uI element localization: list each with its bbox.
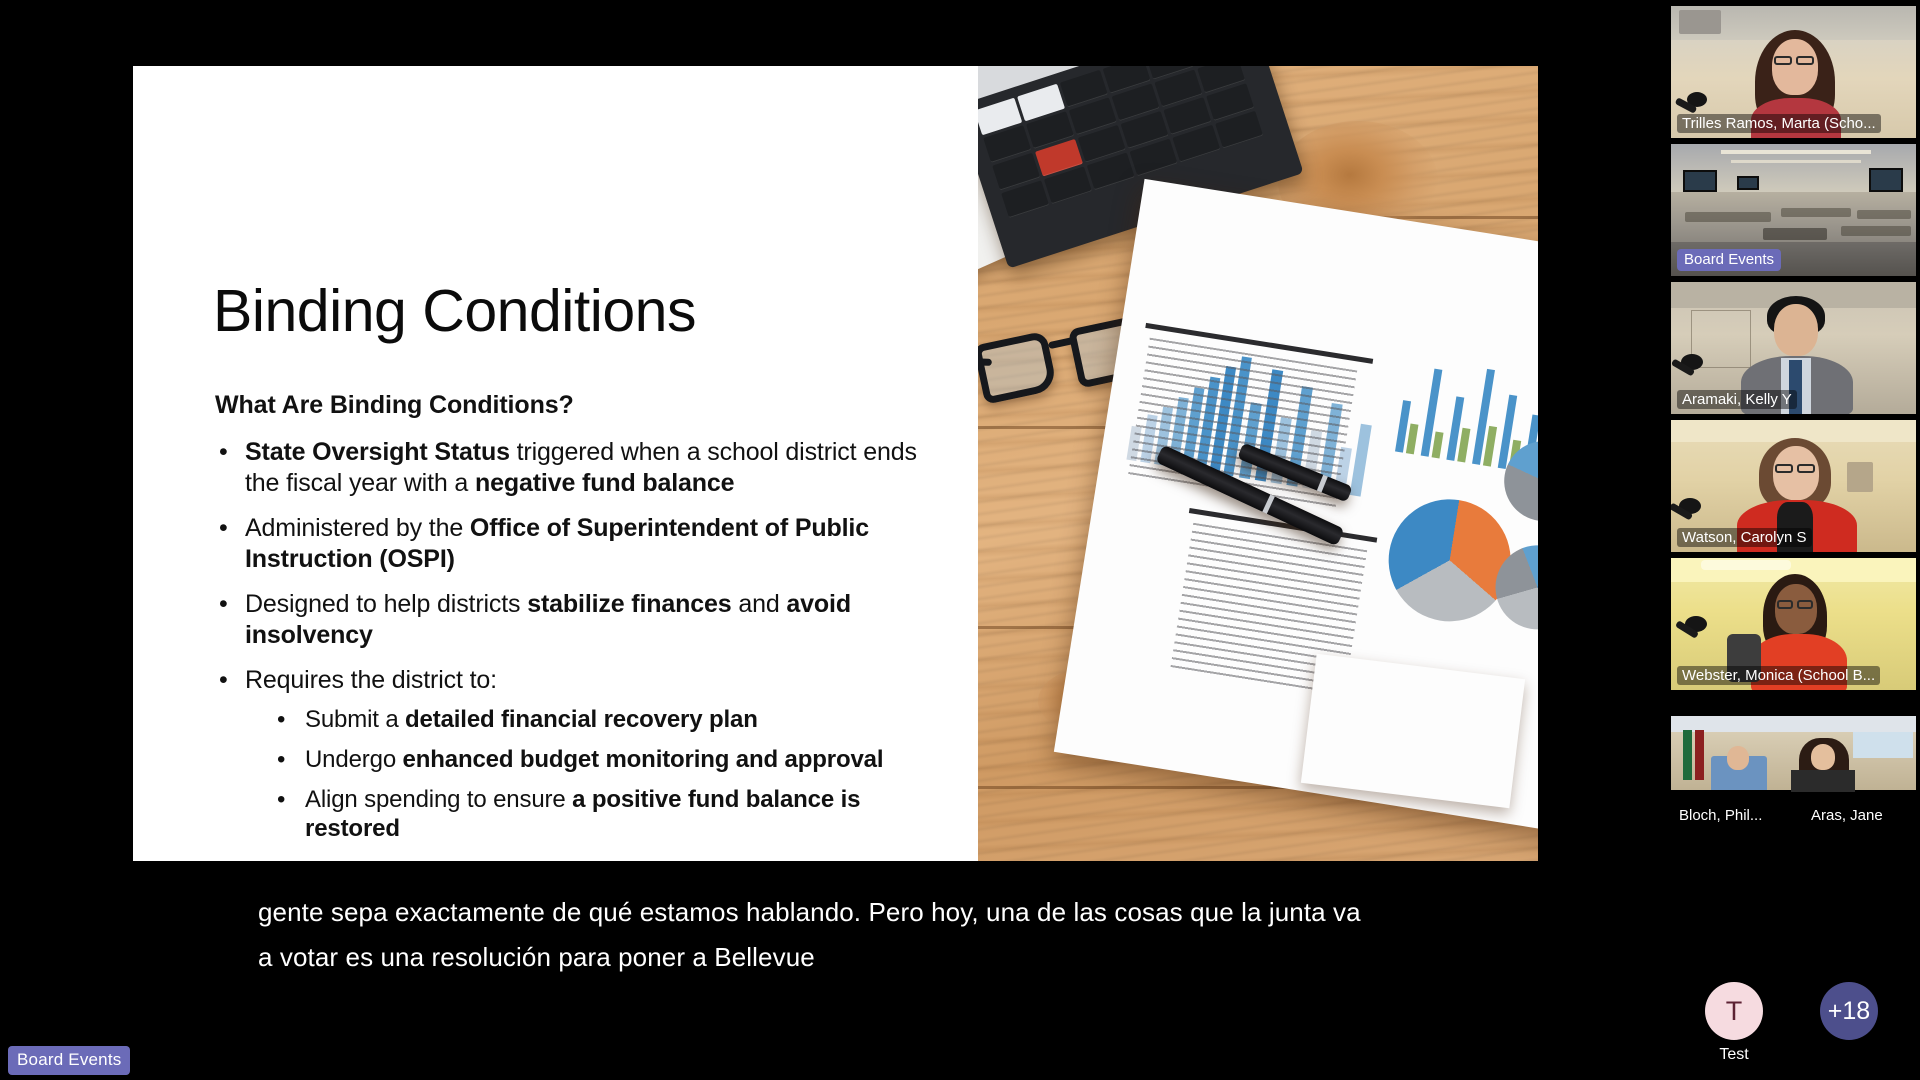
bullet-text: Requires the district to: xyxy=(245,666,497,694)
slide-bullet: •Requires the district to:•Submit a deta… xyxy=(215,665,935,844)
participant-tile[interactable]: Aramaki, Kelly Y xyxy=(1671,282,1916,414)
caption-line-2: a votar es una resolución para poner a B… xyxy=(258,935,1438,980)
participant-name: Board Events xyxy=(1677,249,1781,271)
bullet-text: Undergo xyxy=(305,746,403,773)
bullet-glyph-icon: • xyxy=(219,437,228,468)
participant-name-right: Aras, Jane xyxy=(1811,807,1883,824)
pie-chart-large xyxy=(1380,491,1520,631)
slide-bullet: •Designed to help districts stabilize fi… xyxy=(215,589,935,651)
bullet-text: Administered by the xyxy=(245,514,470,542)
participant-tile[interactable]: Trilles Ramos, Marta (Scho... xyxy=(1671,6,1916,138)
slide-bullet-body: State Oversight Status triggered when a … xyxy=(245,438,917,497)
slide-sub-bullet: •Undergo enhanced budget monitoring and … xyxy=(273,745,935,775)
slide-sub-bullet: •Align spending to ensure a positive fun… xyxy=(273,785,935,845)
slide-sub-bullet-body: Submit a detailed financial recovery pla… xyxy=(305,706,758,733)
bullet-emphasis: enhanced budget monitoring and approval xyxy=(403,746,884,773)
desk-photo xyxy=(978,66,1538,861)
bullet-glyph-icon: • xyxy=(219,665,228,696)
caption-line-1: gente sepa exactamente de qué estamos ha… xyxy=(258,890,1438,935)
slide-bullet-body: Requires the district to: xyxy=(245,666,497,694)
participant-filmstrip[interactable]: Trilles Ramos, Marta (Scho... Board Even… xyxy=(1665,0,1920,1080)
slide-bullet-body: Administered by the Office of Superinten… xyxy=(245,514,869,573)
participant-name-left: Bloch, Phil... xyxy=(1679,807,1762,824)
presentation-slide: Binding Conditions What Are Binding Cond… xyxy=(133,66,1538,861)
slide-title: Binding Conditions xyxy=(213,281,696,343)
bullet-emphasis: State Oversight Status xyxy=(245,438,510,466)
slide-bullet-list: •State Oversight Status triggered when a… xyxy=(215,437,935,844)
bullet-emphasis: stabilize finances xyxy=(527,590,731,618)
bullet-emphasis: detailed financial recovery plan xyxy=(405,706,758,733)
slide-sub-bullet-list: •Submit a detailed financial recovery pl… xyxy=(245,705,935,844)
stage-name-badge: Board Events xyxy=(8,1046,130,1075)
participant-tile-dual[interactable]: Bloch, Phil... Aras, Jane xyxy=(1671,702,1916,834)
participant-name: Watson, Carolyn S xyxy=(1677,528,1812,547)
overflow-participants-avatar[interactable]: +18 xyxy=(1820,982,1878,1040)
bullet-glyph-icon: • xyxy=(219,589,228,620)
slide-body: What Are Binding Conditions? •State Over… xyxy=(215,391,935,858)
slide-text-column: Binding Conditions What Are Binding Cond… xyxy=(133,66,978,861)
shared-content-stage[interactable]: Binding Conditions What Are Binding Cond… xyxy=(0,0,1665,1080)
slide-bullet: •Administered by the Office of Superinte… xyxy=(215,513,935,575)
slide-subheading: What Are Binding Conditions? xyxy=(215,391,935,420)
slide-image xyxy=(978,66,1538,861)
bullet-text: Submit a xyxy=(305,706,405,733)
bullet-glyph-icon: • xyxy=(277,745,285,775)
avatar-label: Test xyxy=(1705,1046,1763,1064)
bullet-text: Align spending to ensure xyxy=(305,786,572,813)
participant-tile[interactable]: Board Events xyxy=(1671,144,1916,276)
participant-video xyxy=(1671,716,1916,790)
bullet-glyph-icon: • xyxy=(219,513,228,544)
bullet-glyph-icon: • xyxy=(277,705,285,735)
overflow-count: +18 xyxy=(1828,997,1870,1026)
slide-sub-bullet: •Submit a detailed financial recovery pl… xyxy=(273,705,935,735)
slide-sub-bullet-body: Undergo enhanced budget monitoring and a… xyxy=(305,746,883,773)
bullet-text: and xyxy=(732,590,787,618)
meeting-screen: Binding Conditions What Are Binding Cond… xyxy=(0,0,1920,1080)
live-captions: gente sepa exactamente de qué estamos ha… xyxy=(258,890,1438,979)
participant-tile[interactable]: Watson, Carolyn S xyxy=(1671,420,1916,552)
participant-name: Aramaki, Kelly Y xyxy=(1677,390,1797,409)
bullet-glyph-icon: • xyxy=(277,785,285,815)
participant-name: Webster, Monica (School B... xyxy=(1677,666,1880,685)
avatar-initial: T xyxy=(1726,996,1743,1027)
participant-name: Trilles Ramos, Marta (Scho... xyxy=(1677,114,1881,133)
bullet-text: Designed to help districts xyxy=(245,590,527,618)
avatar-row: T Test +18 xyxy=(1665,952,1920,1080)
avatar[interactable]: T xyxy=(1705,982,1763,1040)
slide-bullet: •State Oversight Status triggered when a… xyxy=(215,437,935,499)
bullet-emphasis: negative fund balance xyxy=(475,469,734,497)
slide-bullet-body: Designed to help districts stabilize fin… xyxy=(245,590,851,649)
slide-sub-bullet-body: Align spending to ensure a positive fund… xyxy=(305,786,860,843)
participant-tile[interactable]: Webster, Monica (School B... xyxy=(1671,558,1916,690)
